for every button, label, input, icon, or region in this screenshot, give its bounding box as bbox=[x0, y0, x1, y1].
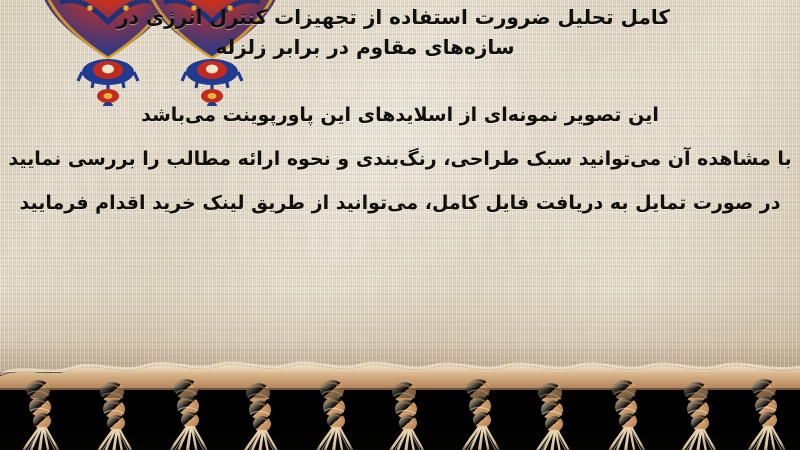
slide-title-line-1: کامل تحلیل ضرورت استفاده از تجهیزات کنتر… bbox=[118, 2, 670, 32]
slide-body-line-2: با مشاهده آن می‌توانید سبک طراحی، رنگ‌بن… bbox=[0, 148, 800, 170]
slide-body: این تصویر نمونه‌ای از اسلایدهای این پاور… bbox=[0, 104, 800, 214]
slide-canvas: کامل تحلیل ضرورت استفاده از تجهیزات کنتر… bbox=[0, 0, 800, 450]
slide-body-line-1: این تصویر نمونه‌ای از اسلایدهای این پاور… bbox=[0, 104, 800, 126]
slide-body-line-3: در صورت تمایل به دریافت فایل کامل، می‌تو… bbox=[0, 192, 800, 214]
slide-title: کامل تحلیل ضرورت استفاده از تجهیزات کنتر… bbox=[0, 2, 800, 62]
slide-title-line-2: سازه‌های مقاوم در برابر زلزله bbox=[118, 32, 670, 62]
carpet-border-band bbox=[0, 372, 800, 450]
